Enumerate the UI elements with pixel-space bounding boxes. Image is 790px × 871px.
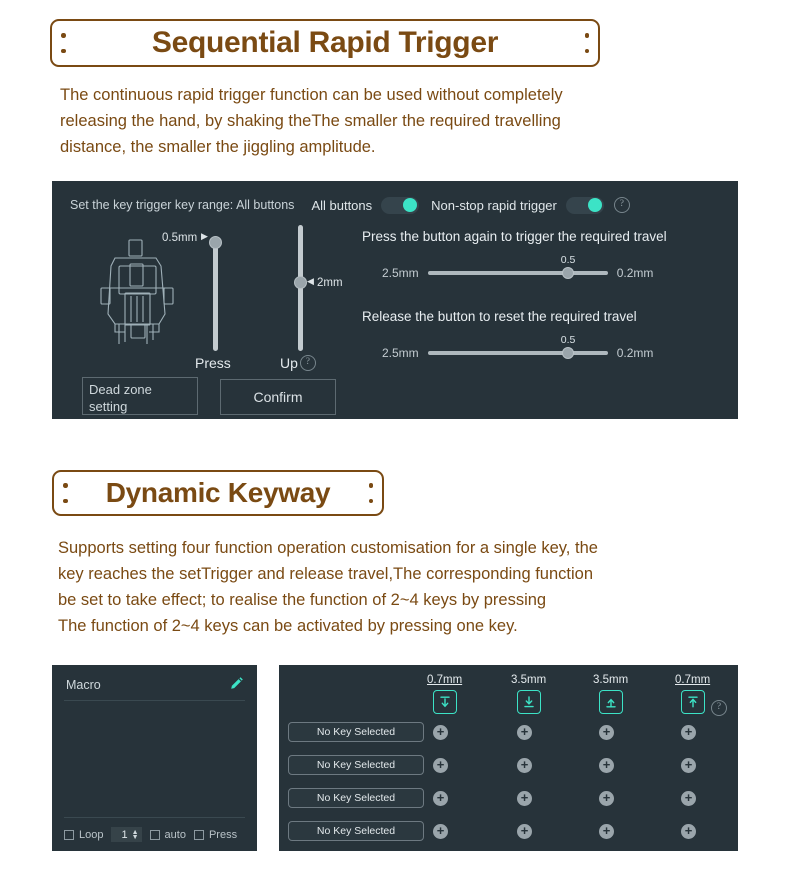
loop-checkbox[interactable] [64, 830, 74, 840]
macro-footer-controls: Loop 1 ▲▼ auto Press [64, 827, 237, 842]
add-action-button[interactable]: + [681, 725, 696, 740]
column-3-travel-label: 3.5mm [593, 674, 628, 686]
press-again-slider-thumb[interactable] [562, 267, 574, 279]
dead-zone-setting-button[interactable]: Dead zone setting [82, 377, 198, 415]
key-select-button[interactable]: No Key Selected [288, 722, 424, 742]
plaque-dots-left [61, 33, 66, 53]
arrow-down-from-line-icon[interactable] [433, 690, 457, 714]
auto-label: auto [165, 829, 186, 841]
all-buttons-toggle[interactable] [381, 197, 419, 214]
key-range-label: Set the key trigger key range: All butto… [70, 198, 294, 212]
press-slider-value: 0.5mm [162, 232, 197, 244]
up-slider-label-text: Up [280, 355, 298, 371]
release-reset-slider-thumb[interactable] [562, 347, 574, 359]
plaque-dots-right [585, 33, 590, 53]
macro-title: Macro [66, 678, 101, 692]
macro-footer-divider [64, 817, 245, 818]
up-travel-slider[interactable] [298, 225, 303, 351]
non-stop-rapid-trigger-label: Non-stop rapid trigger [431, 198, 557, 213]
add-action-button[interactable]: + [599, 824, 614, 839]
loop-label: Loop [79, 829, 103, 841]
key-select-button[interactable]: No Key Selected [288, 755, 424, 775]
keyboard-switch-illustration [81, 236, 201, 356]
column-1-travel-label: 0.7mm [427, 674, 462, 686]
add-action-button[interactable]: + [517, 824, 532, 839]
add-action-button[interactable]: + [517, 791, 532, 806]
release-reset-travel-value: 0.5 [561, 334, 576, 346]
section-title-plaque-dynamic-keyway: Dynamic Keyway [52, 470, 384, 516]
press-again-min-label: 2.5mm [382, 266, 419, 280]
section-description-dynamic-keyway: Supports setting four function operation… [58, 535, 758, 639]
column-header-2: 3.5mm [511, 674, 546, 714]
arrow-up-to-line-icon[interactable] [681, 690, 705, 714]
auto-checkbox[interactable] [150, 830, 160, 840]
arrow-up-from-line-icon[interactable] [599, 690, 623, 714]
toggle-knob [403, 198, 417, 212]
add-action-button[interactable]: + [433, 758, 448, 773]
press-slider-label: Press [195, 355, 231, 371]
stepper-arrows-icon[interactable]: ▲▼ [132, 830, 139, 840]
add-action-button[interactable]: + [517, 725, 532, 740]
rapid-trigger-toolbar: Set the key trigger key range: All butto… [70, 193, 728, 217]
section-title-plaque-rapid-trigger: Sequential Rapid Trigger [50, 19, 600, 67]
press-slider-label-text: Press [195, 355, 231, 371]
column-header-1: 0.7mm [427, 674, 462, 714]
add-action-button[interactable]: + [433, 725, 448, 740]
add-action-button[interactable]: + [517, 758, 532, 773]
plaque-dots-right [369, 483, 374, 503]
key-select-button[interactable]: No Key Selected [288, 788, 424, 808]
add-action-button[interactable]: + [599, 725, 614, 740]
column-2-travel-label: 3.5mm [511, 674, 546, 686]
macro-header-divider [64, 700, 245, 701]
column-header-4: 0.7mm [675, 674, 710, 714]
confirm-button[interactable]: Confirm [220, 379, 336, 415]
question-mark-icon[interactable]: ? [614, 197, 630, 213]
add-action-button[interactable]: + [681, 758, 696, 773]
section-title: Dynamic Keyway [106, 477, 331, 509]
loop-count-stepper[interactable]: 1 ▲▼ [111, 827, 141, 842]
arrow-down-to-line-icon[interactable] [517, 690, 541, 714]
plaque-dots-left [63, 483, 68, 503]
toggle-knob [588, 198, 602, 212]
rapid-trigger-panel: Set the key trigger key range: All butto… [52, 181, 738, 419]
macro-panel: Macro Loop 1 ▲▼ auto Press [52, 665, 257, 851]
question-mark-icon[interactable]: ? [711, 700, 727, 716]
press-checkbox[interactable] [194, 830, 204, 840]
release-reset-travel-title: Release the button to reset the required… [362, 309, 637, 324]
add-action-button[interactable]: + [599, 758, 614, 773]
add-action-button[interactable]: + [433, 791, 448, 806]
release-reset-max-label: 0.2mm [617, 346, 654, 360]
all-buttons-label: All buttons [311, 198, 372, 213]
section-description-rapid-trigger: The continuous rapid trigger function ca… [60, 82, 750, 160]
release-reset-travel-slider-row: 2.5mm 0.5 0.2mm [382, 346, 672, 360]
press-again-travel-value: 0.5 [561, 254, 576, 266]
press-again-travel-slider-row: 2.5mm 0.5 0.2mm [382, 266, 672, 280]
release-reset-travel-slider[interactable]: 0.5 [428, 351, 608, 355]
add-action-button[interactable]: + [599, 791, 614, 806]
add-action-button[interactable]: + [681, 824, 696, 839]
press-again-max-label: 0.2mm [617, 266, 654, 280]
page-title: Sequential Rapid Trigger [152, 26, 498, 60]
loop-count-value: 1 [121, 829, 127, 841]
question-mark-icon[interactable]: ? [300, 355, 316, 371]
press-slider-thumb[interactable] [209, 236, 222, 249]
release-reset-min-label: 2.5mm [382, 346, 419, 360]
up-slider-thumb[interactable] [294, 276, 307, 289]
press-travel-slider[interactable] [213, 237, 218, 351]
press-slider-value-caret: ▶ [201, 231, 208, 242]
column-4-travel-label: 0.7mm [675, 674, 710, 686]
dynamic-keyway-panel: 0.7mm 3.5mm 3.5mm 0.7mm ? [279, 665, 738, 851]
non-stop-rapid-trigger-toggle[interactable] [566, 197, 604, 214]
up-slider-value: 2mm [317, 277, 343, 289]
press-label: Press [209, 829, 237, 841]
up-slider-label: Up ? [280, 355, 316, 371]
press-again-travel-slider[interactable]: 0.5 [428, 271, 608, 275]
up-slider-value-caret: ◀ [307, 276, 314, 287]
add-action-button[interactable]: + [681, 791, 696, 806]
press-again-travel-title: Press the button again to trigger the re… [362, 229, 667, 244]
pencil-edit-icon[interactable] [229, 675, 245, 691]
add-action-button[interactable]: + [433, 824, 448, 839]
column-header-3: 3.5mm [593, 674, 628, 714]
key-select-button[interactable]: No Key Selected [288, 821, 424, 841]
